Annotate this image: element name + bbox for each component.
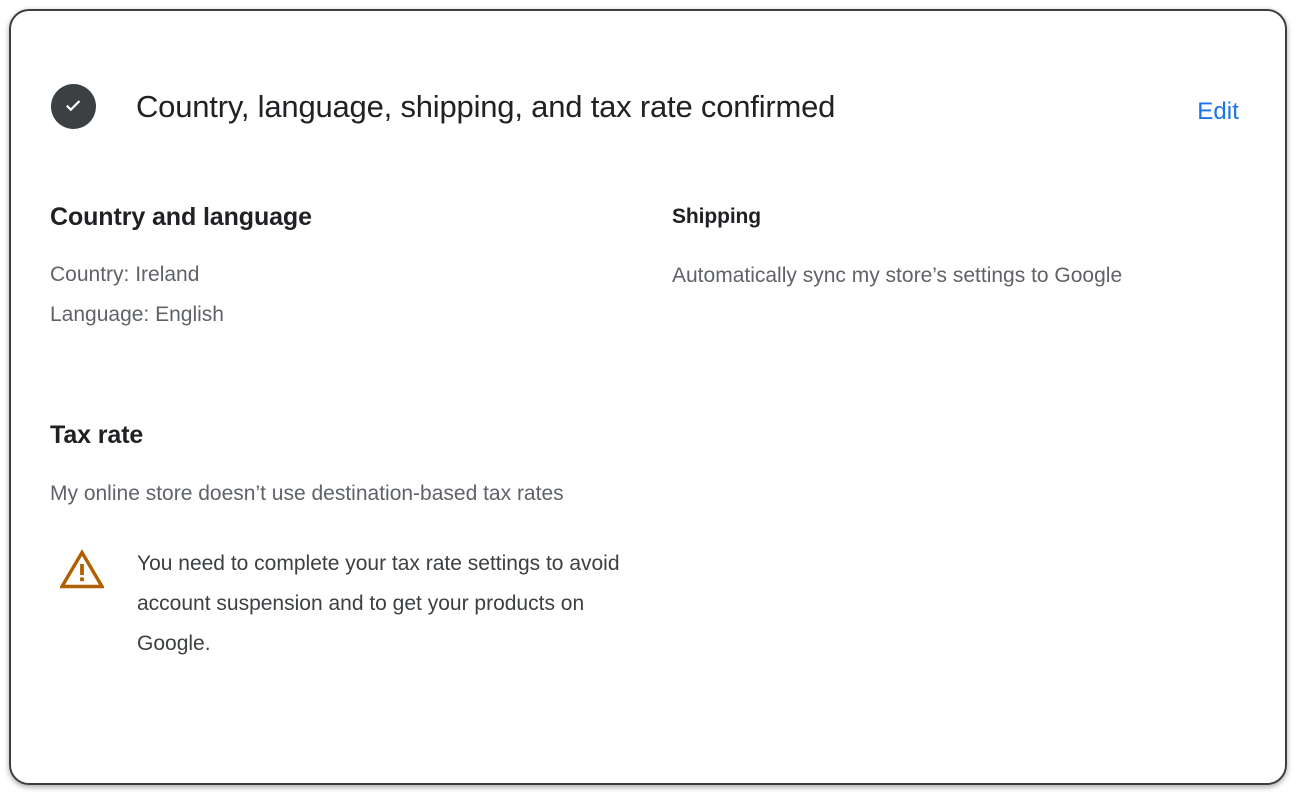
screen-root: Country, language, shipping, and tax rat… bbox=[0, 0, 1296, 800]
confirmation-card: Country, language, shipping, and tax rat… bbox=[9, 9, 1287, 785]
tax-rate-warning: You need to complete your tax rate setti… bbox=[50, 544, 650, 664]
language-value: Language: English bbox=[50, 295, 650, 335]
card-header: Country, language, shipping, and tax rat… bbox=[11, 11, 1285, 131]
shipping-value: Automatically sync my store’s settings t… bbox=[672, 255, 1202, 296]
page-title: Country, language, shipping, and tax rat… bbox=[136, 87, 835, 127]
right-column: Shipping Automatically sync my store’s s… bbox=[672, 201, 1232, 296]
warning-message: You need to complete your tax rate setti… bbox=[137, 544, 637, 664]
section-heading: Country and language bbox=[50, 201, 650, 233]
left-column: Country and language Country: Ireland La… bbox=[50, 201, 650, 664]
check-circle-icon bbox=[51, 84, 96, 129]
tax-rate-value: My online store doesn’t use destination-… bbox=[50, 473, 570, 514]
section-heading: Shipping bbox=[672, 201, 1232, 231]
section-heading: Tax rate bbox=[50, 419, 650, 451]
section-tax-rate: Tax rate My online store doesn’t use des… bbox=[50, 419, 650, 664]
edit-link[interactable]: Edit bbox=[1197, 97, 1239, 127]
warning-triangle-icon bbox=[60, 549, 104, 589]
section-country-and-language: Country and language Country: Ireland La… bbox=[50, 201, 650, 335]
country-value: Country: Ireland bbox=[50, 255, 650, 295]
section-shipping: Shipping Automatically sync my store’s s… bbox=[672, 201, 1232, 296]
section-spacer bbox=[50, 335, 650, 419]
